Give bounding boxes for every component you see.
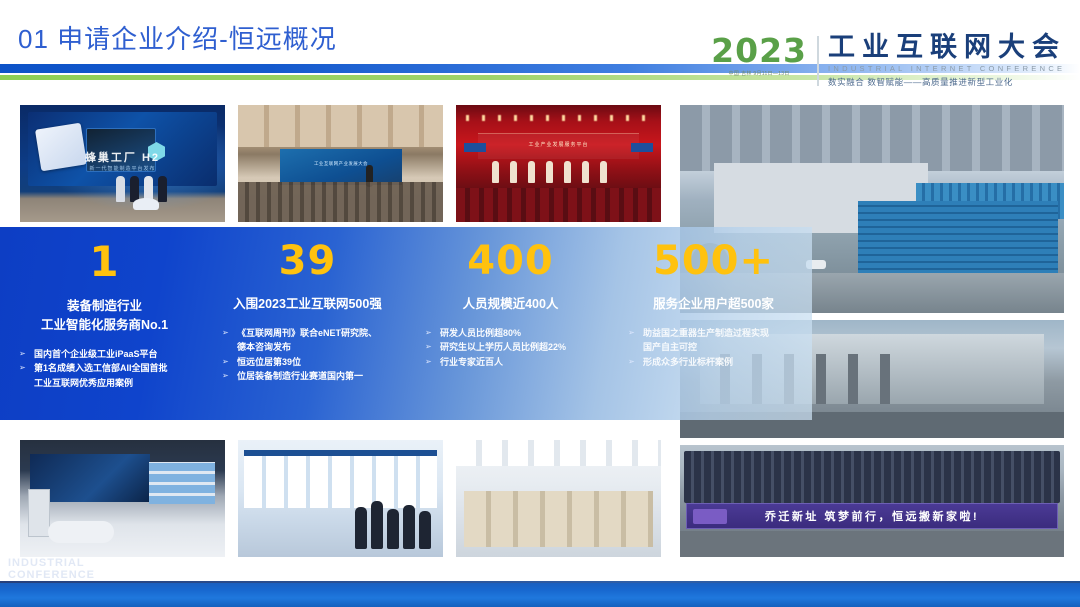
watermark-line-1: INDUSTRIAL xyxy=(8,557,95,569)
launch-podium xyxy=(133,198,159,210)
statistics-band: 1 装备制造行业 工业智能化服务商No.1 ➢国内首个企业级工业iPaaS平台 … xyxy=(0,227,812,420)
stat-bullet: ➢《互联网周刊》联合eNET研究院、 xyxy=(221,326,394,341)
stat-number: 500+ xyxy=(627,241,800,281)
stat-column-4: 500+ 服务企业用户超500家 ➢助益国之重器生产制造过程实现 国产自主可控 … xyxy=(609,227,812,420)
office-ceiling-lights xyxy=(456,440,661,466)
stat-bullet: ➢恒远位居第39位 xyxy=(221,355,394,370)
stat-number: 400 xyxy=(424,241,597,281)
stat-bullet: ➢研发人员比例超80% xyxy=(424,326,597,341)
watermark: INDUSTRIAL CONFERENCE xyxy=(8,557,95,581)
bullet-arrow-icon: ➢ xyxy=(222,370,229,383)
logo-year-block: 2023 中国·吉林 9月11日—13日 xyxy=(711,34,817,77)
stat-column-2: 39 入围2023工业互联网500强 ➢《互联网周刊》联合eNET研究院、 德本… xyxy=(203,227,406,420)
ceremony-backdrop-text: 工业产业发展服务平台 xyxy=(478,141,639,148)
watermark-line-2: CONFERENCE xyxy=(8,569,95,581)
logo-year-subtitle: 中国·吉林 9月11日—13日 xyxy=(711,70,807,77)
stat-bullet-continuation: 德本咨询发布 xyxy=(221,340,394,355)
launch-screen-title: 蜂巢工厂 H2 xyxy=(20,149,225,165)
bullet-arrow-icon: ➢ xyxy=(425,341,432,354)
conference-logo: 2023 中国·吉林 9月11日—13日 工业互联网大会 INDUSTRIAL … xyxy=(711,34,1066,88)
stat-bullet-text: 第1名成绩入选工信部AII全国首批 xyxy=(34,363,168,373)
stat-bullet-text: 国产自主可控 xyxy=(643,342,697,352)
hall-screen-text: 工业互联网产业发展大会 xyxy=(280,161,402,167)
stat-bullet: ➢助益国之重器生产制造过程实现 xyxy=(627,326,800,341)
exhibit-booth xyxy=(48,521,114,543)
logo-year: 2023 xyxy=(711,34,807,67)
team-parking-lot xyxy=(680,531,1064,557)
stat-headline-line: 工业智能化服务商No.1 xyxy=(18,316,191,335)
photo-exhibition-hall xyxy=(20,440,225,557)
stat-bullet-list: ➢助益国之重器生产制造过程实现 国产自主可控 ➢形成众多行业标杆案例 xyxy=(627,326,800,370)
campus-skyline xyxy=(680,105,1064,171)
stat-bullet-text: 助益国之重器生产制造过程实现 xyxy=(643,328,769,338)
page-title: 01 申请企业介绍-恒远概况 xyxy=(18,19,337,56)
bullet-arrow-icon: ➢ xyxy=(628,356,635,369)
stat-headline: 服务企业用户超500家 xyxy=(627,295,800,314)
photo-leaders-visit xyxy=(238,440,443,557)
exhibit-machine xyxy=(28,489,50,537)
stat-bullet-text: 研究生以上学历人员比例超22% xyxy=(440,342,566,352)
slide: 01 申请企业介绍-恒远概况 2023 中国·吉林 9月11日—13日 工业互联… xyxy=(0,0,1080,607)
stat-bullet-list: ➢研发人员比例超80% ➢研究生以上学历人员比例超22% ➢行业专家近百人 xyxy=(424,326,597,370)
stat-bullet-text: 德本咨询发布 xyxy=(237,342,291,352)
photo-award-ceremony: 工业产业发展服务平台 xyxy=(456,105,661,222)
stat-column-3: 400 人员规模近400人 ➢研发人员比例超80% ➢研究生以上学历人员比例超2… xyxy=(406,227,609,420)
bullet-arrow-icon: ➢ xyxy=(425,356,432,369)
ceremony-logo-right xyxy=(631,143,653,152)
stat-bullet: ➢形成众多行业标杆案例 xyxy=(627,355,800,370)
ceremony-logo-left xyxy=(464,143,486,152)
stage-lights xyxy=(466,115,651,121)
stat-bullet-text: 位居装备制造行业赛道国内第一 xyxy=(237,371,363,381)
stat-headline: 人员规模近400人 xyxy=(424,295,597,314)
stat-bullet-text: 国内首个企业级工业iPaaS平台 xyxy=(34,349,158,359)
stat-column-1: 1 装备制造行业 工业智能化服务商No.1 ➢国内首个企业级工业iPaaS平台 … xyxy=(0,227,203,420)
stat-bullet: ➢位居装备制造行业赛道国内第一 xyxy=(221,369,394,384)
logo-name-cn: 工业互联网大会 xyxy=(828,34,1066,61)
hall-audience xyxy=(238,182,443,222)
stat-headline-line: 服务企业用户超500家 xyxy=(627,295,800,314)
exhibit-panels xyxy=(149,462,215,504)
stat-bullet: ➢第1名成绩入选工信部AII全国首批 xyxy=(18,361,191,376)
photo-conference-hall: 工业互联网产业发展大会 xyxy=(238,105,443,222)
bullet-arrow-icon: ➢ xyxy=(19,362,26,375)
visit-display-wall xyxy=(244,450,437,508)
stat-bullet: ➢国内首个企业级工业iPaaS平台 xyxy=(18,347,191,362)
stat-bullet: ➢研究生以上学历人员比例超22% xyxy=(424,340,597,355)
stat-bullet-continuation: 工业互联网优秀应用案例 xyxy=(18,376,191,391)
stat-bullet: ➢行业专家近百人 xyxy=(424,355,597,370)
photo-team-group: 乔迁新址 筑梦前行，恒远搬新家啦! xyxy=(680,445,1064,557)
stat-number: 39 xyxy=(221,241,394,281)
stat-number: 1 xyxy=(18,241,191,283)
stat-headline: 装备制造行业 工业智能化服务商No.1 xyxy=(18,297,191,335)
stat-bullet-text: 形成众多行业标杆案例 xyxy=(643,357,733,367)
hall-ceiling xyxy=(238,105,443,147)
bullet-arrow-icon: ➢ xyxy=(222,356,229,369)
stat-bullet-text: 工业互联网优秀应用案例 xyxy=(34,378,133,388)
stat-headline: 入围2023工业互联网500强 xyxy=(221,295,394,314)
photo-product-launch: 蜂巢工厂 H2 新一代智能制造平台发布 xyxy=(20,105,225,222)
office-desks xyxy=(464,491,653,547)
stat-headline-line: 人员规模近400人 xyxy=(424,295,597,314)
bullet-arrow-icon: ➢ xyxy=(628,327,635,340)
ceremony-audience xyxy=(456,188,661,222)
stat-bullet-text: 行业专家近百人 xyxy=(440,357,503,367)
stat-bullet-list: ➢《互联网周刊》联合eNET研究院、 德本咨询发布 ➢恒远位居第39位 ➢位居装… xyxy=(221,326,394,384)
footer-bar xyxy=(0,583,1080,607)
logo-name-block: 工业互联网大会 INDUSTRIAL INTERNET CONFERENCE 数… xyxy=(828,34,1066,88)
bullet-arrow-icon: ➢ xyxy=(19,348,26,361)
bullet-arrow-icon: ➢ xyxy=(222,327,229,340)
team-banner-logo xyxy=(693,509,727,524)
launch-screen-subtitle: 新一代智能制造平台发布 xyxy=(20,165,225,172)
team-banner: 乔迁新址 筑梦前行，恒远搬新家啦! xyxy=(686,503,1058,529)
logo-slogan: 数实融合 数智赋能——高质量推进新型工业化 xyxy=(828,76,1066,88)
ceremony-backdrop: 工业产业发展服务平台 xyxy=(478,133,639,159)
stat-bullet-continuation: 国产自主可控 xyxy=(627,340,800,355)
stat-bullet-text: 恒远位居第39位 xyxy=(237,357,301,367)
visit-people xyxy=(355,501,431,549)
stat-headline-line: 入围2023工业互联网500强 xyxy=(221,295,394,314)
stat-bullet-text: 《互联网周刊》联合eNET研究院、 xyxy=(237,328,377,338)
stat-bullet-text: 研发人员比例超80% xyxy=(440,328,521,338)
logo-divider xyxy=(817,36,819,86)
bullet-arrow-icon: ➢ xyxy=(425,327,432,340)
logo-name-en: INDUSTRIAL INTERNET CONFERENCE xyxy=(828,64,1066,73)
ceremony-honorees xyxy=(492,161,607,183)
team-crowd xyxy=(684,451,1060,503)
team-banner-text: 乔迁新址 筑梦前行，恒远搬新家啦! xyxy=(765,508,979,524)
hall-stage-screen: 工业互联网产业发展大会 xyxy=(280,149,402,185)
photo-open-office xyxy=(456,440,661,557)
stat-bullet-list: ➢国内首个企业级工业iPaaS平台 ➢第1名成绩入选工信部AII全国首批 工业互… xyxy=(18,347,191,391)
stat-headline-line: 装备制造行业 xyxy=(18,297,191,316)
